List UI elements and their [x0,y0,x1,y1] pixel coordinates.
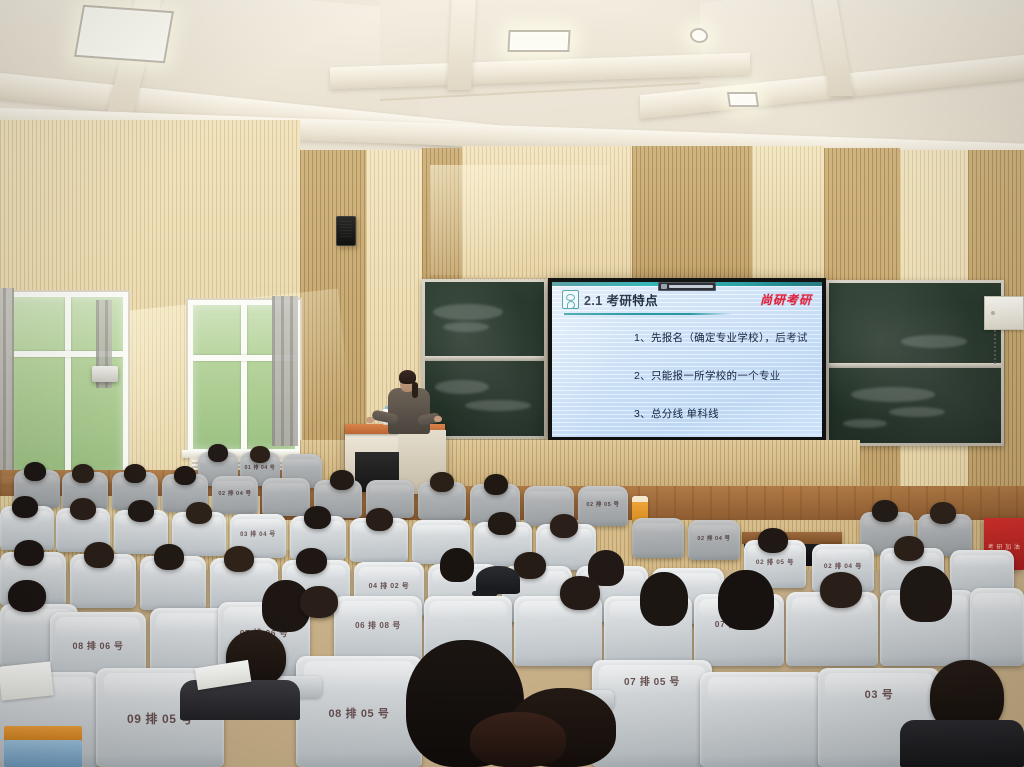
wall-panel [422,148,462,288]
student-head [330,470,354,490]
student-head [296,548,327,574]
student-head [12,496,38,518]
ceiling-light-panel [727,92,759,107]
wall-control-plate[interactable] [984,296,1024,330]
student-head [304,506,331,529]
seat[interactable]: 02 排 04 号 [212,476,258,514]
student-head [8,580,46,612]
seat[interactable]: 08 排 05 号 [296,656,422,767]
student-head [300,586,338,618]
student-head [72,464,94,483]
student-head [224,546,254,572]
presenter-hair [412,382,418,398]
ceiling-light-panel [507,30,570,52]
projector [92,366,118,382]
student-head [174,466,196,485]
wall-panel [462,146,632,278]
chalkboard-right [826,280,1004,446]
wall-panel [752,146,824,286]
student-head [430,472,454,492]
student-head [366,508,393,531]
student-head [758,528,788,553]
seat-label: 01 排 04 号 [240,464,280,471]
seat-label: 03 号 [818,686,940,702]
ceiling-light-panel [689,28,709,43]
student-head [186,502,212,524]
brand-logo-text: 尚研考研 [760,291,812,308]
wall-panel [632,146,752,278]
student-head [550,514,578,538]
orange-blue-bag[interactable] [4,740,82,767]
student-head [70,498,96,520]
student-head [154,544,184,570]
chalkboard-left [422,279,547,439]
student-head [84,542,114,568]
student-hair [470,712,566,767]
student-head [250,446,270,463]
seat-label: 04 排 02 号 [354,581,424,591]
student-head [128,500,154,522]
slide-bullet: 2、只能报一所学校的一个专业 [582,368,792,383]
slide-bullet: 1、先报名（确定专业学校），后考试 [582,330,792,345]
presenter-torso [388,388,430,434]
slide-bullet: 3、总分线 单科线 [582,406,792,421]
seat[interactable] [700,672,826,767]
student-head [820,572,862,608]
student-head [208,444,228,462]
student-head [488,512,516,535]
seat[interactable]: 02 排 04 号 [688,520,740,560]
title-underline [564,313,732,315]
seat[interactable]: 02 排 05 号 [578,486,628,526]
seat-label: 07 排 05 号 [592,673,712,688]
slide-surface: 2.1 考研特点 尚研考研 1、先报名（确定专业学校），后考试 2、只能报一所学… [552,282,822,437]
seat-label: 08 排 06 号 [50,639,146,652]
presenter-hand [366,417,374,423]
seat-label: 03 排 04 号 [230,529,286,538]
seat-label: 08 排 05 号 [296,705,422,721]
seat[interactable] [262,478,310,516]
lecture-hall-photo: 2.1 考研特点 尚研考研 1、先报名（确定专业学校），后考试 2、只能报一所学… [0,0,1024,767]
student-head [930,502,956,524]
seat[interactable] [632,518,684,558]
curtain[interactable] [272,296,298,446]
presenter-hand [434,416,442,422]
ceiling-light-panel [74,5,174,63]
projection-screen: 2.1 考研特点 尚研考研 1、先报名（确定专业学校），后考试 2、只能报一所学… [548,278,826,441]
seat-label: 06 排 08 号 [334,620,422,631]
curtain[interactable] [0,288,14,488]
student-hair [718,570,774,630]
handout-papers[interactable] [0,661,54,700]
slide-bullet-list: 1、先报名（确定专业学校），后考试 2、只能报一所学校的一个专业 3、总分线 单… [552,330,822,429]
slide-title: 2.1 考研特点 [584,290,658,309]
student-head [24,462,46,481]
student-head [560,576,600,610]
student-head [124,464,146,483]
student-hair [900,566,952,622]
seat[interactable] [970,588,1024,666]
wall-speaker [336,216,356,246]
student-head [14,540,44,566]
seat-label: 02 排 04 号 [212,489,258,497]
student-shoulders [900,720,1024,767]
student-head [872,500,898,522]
student-hair [440,548,474,582]
seat-label: 02 排 05 号 [744,556,806,566]
student-head [484,474,508,495]
seat-label: 02 排 04 号 [812,560,874,570]
seat-label: 02 排 05 号 [578,500,628,508]
seal-stamp-icon [562,290,579,309]
student-head [894,536,924,561]
student-hair [640,572,688,626]
baseball-cap [476,566,520,594]
seat-label: 02 排 04 号 [688,534,740,542]
